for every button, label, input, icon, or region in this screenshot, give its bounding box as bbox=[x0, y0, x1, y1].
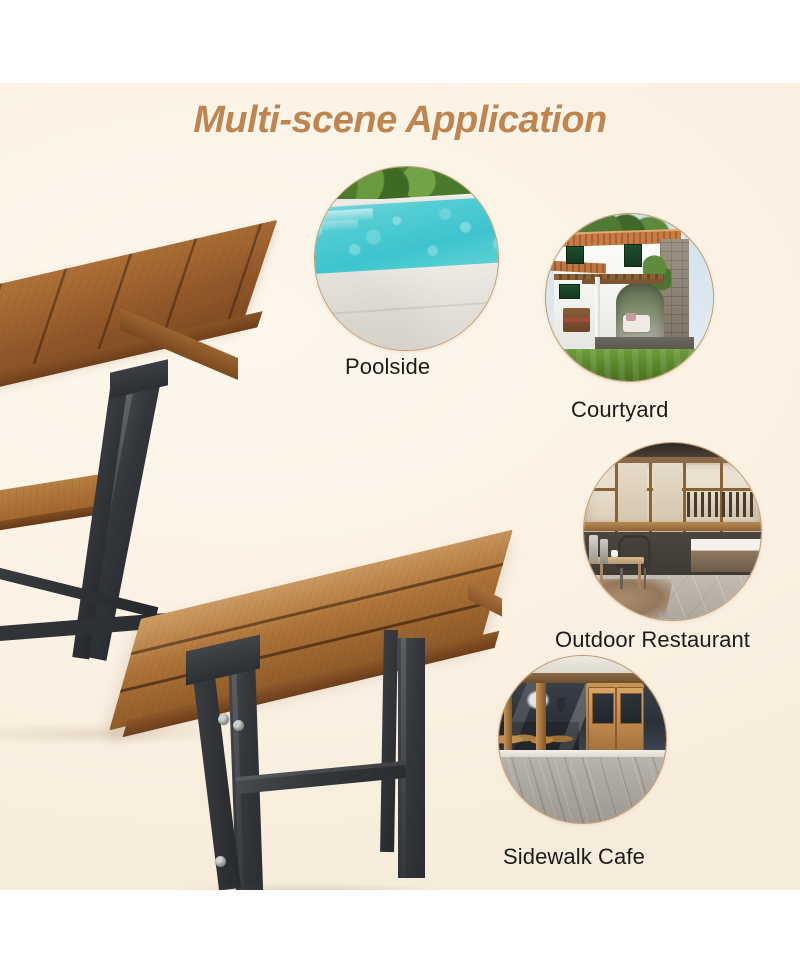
cafe-scene-icon[interactable] bbox=[498, 655, 667, 824]
courtyard-scene-icon[interactable] bbox=[545, 213, 714, 382]
hardware-bolt bbox=[215, 856, 226, 867]
bench-metal-leg-right-rear bbox=[380, 630, 398, 852]
scene-outdoor-restaurant[interactable] bbox=[583, 442, 760, 619]
scene-courtyard[interactable] bbox=[545, 213, 712, 380]
scene-sidewalk-cafe[interactable] bbox=[498, 655, 665, 822]
product-marketing-image: Multi-scene Application bbox=[0, 0, 800, 977]
poolside-photo bbox=[314, 166, 499, 351]
pool-scene-icon[interactable] bbox=[314, 166, 499, 351]
scene-label-courtyard: Courtyard bbox=[571, 397, 669, 423]
outdoor-restaurant-photo bbox=[583, 442, 762, 621]
courtyard-photo bbox=[545, 213, 714, 382]
bench-seat-top bbox=[109, 530, 513, 731]
product-shadow bbox=[0, 723, 240, 745]
scene-label-outdoor-restaurant: Outdoor Restaurant bbox=[555, 627, 750, 653]
scene-poolside[interactable] bbox=[314, 166, 497, 349]
product-shadow bbox=[170, 883, 450, 890]
scene-label-sidewalk-cafe: Sidewalk Cafe bbox=[503, 844, 645, 870]
restaurant-scene-icon[interactable] bbox=[583, 442, 762, 621]
bench-metal-leg-right bbox=[398, 638, 425, 878]
scene-label-poolside: Poolside bbox=[345, 354, 430, 380]
content-panel: Multi-scene Application bbox=[0, 83, 800, 890]
sidewalk-cafe-photo bbox=[498, 655, 667, 824]
